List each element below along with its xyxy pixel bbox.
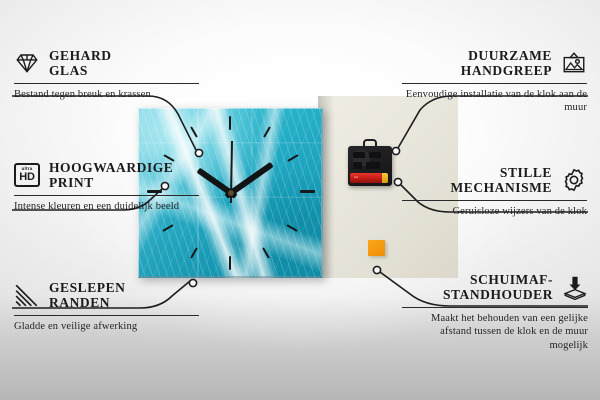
feature-subtitle: Gladde en veilige afwerking <box>14 320 199 333</box>
feature-divider <box>14 83 199 84</box>
feature-header: DUURZAME HANDGREEP <box>402 48 587 78</box>
feature-duurzame-handgreep: DUURZAME HANDGREEP Eenvoudige installati… <box>402 48 587 115</box>
feature-title: STILLE MECHANISME <box>450 165 552 195</box>
picture-frame-hanging-icon <box>561 50 587 76</box>
callout-dot-mechanisme <box>394 178 401 185</box>
feature-geslepen-randen: GESLEPEN RANDEN Gladde en veilige afwerk… <box>14 280 199 333</box>
feature-header: GEHARD GLAS <box>14 48 199 78</box>
feature-subtitle: Eenvoudige installatie van de klok aan d… <box>402 88 587 114</box>
feature-stille-mechanisme: STILLE MECHANISME Geruisloze wijzers van… <box>402 165 587 218</box>
feature-divider <box>402 307 588 308</box>
feature-subtitle: Geruisloze wijzers van de klok <box>402 205 587 218</box>
feature-header: SCHUIMAF- STANDHOUDER <box>402 272 588 302</box>
feature-title: DUURZAME HANDGREEP <box>461 48 552 78</box>
ultra-hd-icon-large-text: HD <box>19 172 35 183</box>
feature-schuimaf-standhouder: SCHUIMAF- STANDHOUDER Maakt het behouden… <box>402 272 588 352</box>
foam-spacer-arrow-icon <box>562 274 588 300</box>
ultra-hd-icon: ultra HD <box>14 163 40 187</box>
feature-title: GEHARD GLAS <box>49 48 112 78</box>
feature-header: ultra HD HOOGWAARDIGE PRINT <box>14 160 199 190</box>
feature-subtitle: Maakt het behouden van een gelijke afsta… <box>402 312 588 352</box>
feature-hoogwaardige-print: ultra HD HOOGWAARDIGE PRINT Intense kleu… <box>14 160 199 213</box>
feature-gehard-glas: GEHARD GLAS Bestand tegen breuk en krass… <box>14 48 199 101</box>
feature-divider <box>14 195 199 196</box>
callout-dot-standhouder <box>373 266 380 273</box>
callout-line-gehard-glas <box>12 96 196 150</box>
feature-divider <box>402 83 587 84</box>
diamond-icon <box>14 50 40 76</box>
feature-subtitle: Bestand tegen breuk en krassen <box>14 88 199 101</box>
beveled-edge-icon <box>14 282 40 308</box>
feature-subtitle: Intense kleuren en een duidelijk beeld <box>14 200 199 213</box>
feature-title: GESLEPEN RANDEN <box>49 280 125 310</box>
callout-dot-handgreep <box>392 147 399 154</box>
feature-title: HOOGWAARDIGE PRINT <box>49 160 173 190</box>
feature-title: SCHUIMAF- STANDHOUDER <box>443 272 553 302</box>
gear-icon <box>561 167 587 193</box>
callout-dot-gehard-glas <box>195 149 202 156</box>
feature-divider <box>402 200 587 201</box>
feature-header: STILLE MECHANISME <box>402 165 587 195</box>
feature-divider <box>14 315 199 316</box>
feature-header: GESLEPEN RANDEN <box>14 280 199 310</box>
